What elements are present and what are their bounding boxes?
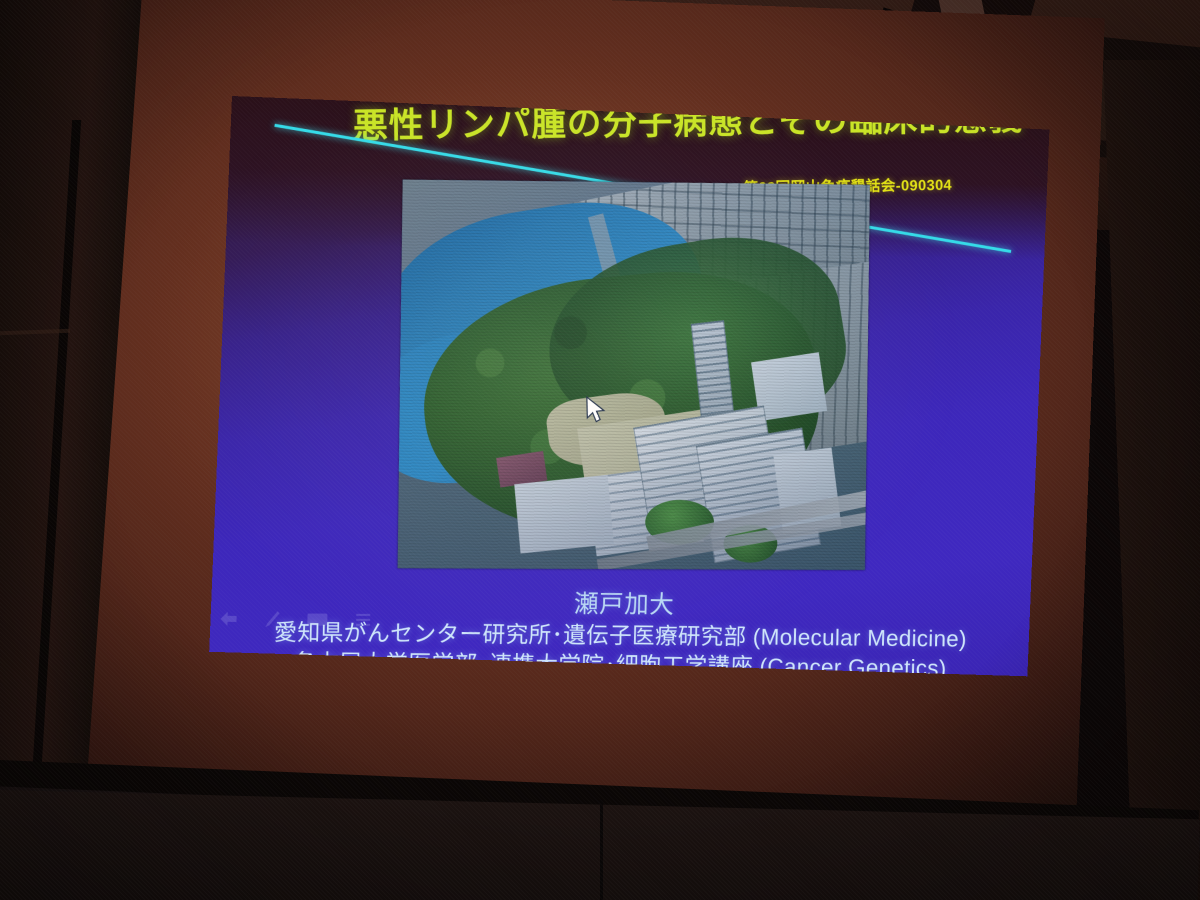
photo-scanline-grain bbox=[398, 180, 870, 570]
pen-icon[interactable] bbox=[264, 610, 280, 628]
aerial-campus-photograph bbox=[398, 180, 870, 570]
right-wall bbox=[1103, 60, 1200, 900]
lower-wall-seam bbox=[600, 800, 603, 900]
back-arrow-icon[interactable] bbox=[218, 611, 238, 627]
projected-slide: 悪性リンパ腫の分子病態とその臨床的意義 第28回岡山免疫懇話会-090304 bbox=[209, 96, 1049, 676]
menu-icon[interactable] bbox=[354, 612, 372, 628]
presenter-nav-bar[interactable] bbox=[218, 610, 372, 629]
slide-box-icon[interactable] bbox=[306, 611, 328, 627]
lecture-room-scene: 悪性リンパ腫の分子病態とその臨床的意義 第28回岡山免疫懇話会-090304 bbox=[0, 0, 1200, 900]
